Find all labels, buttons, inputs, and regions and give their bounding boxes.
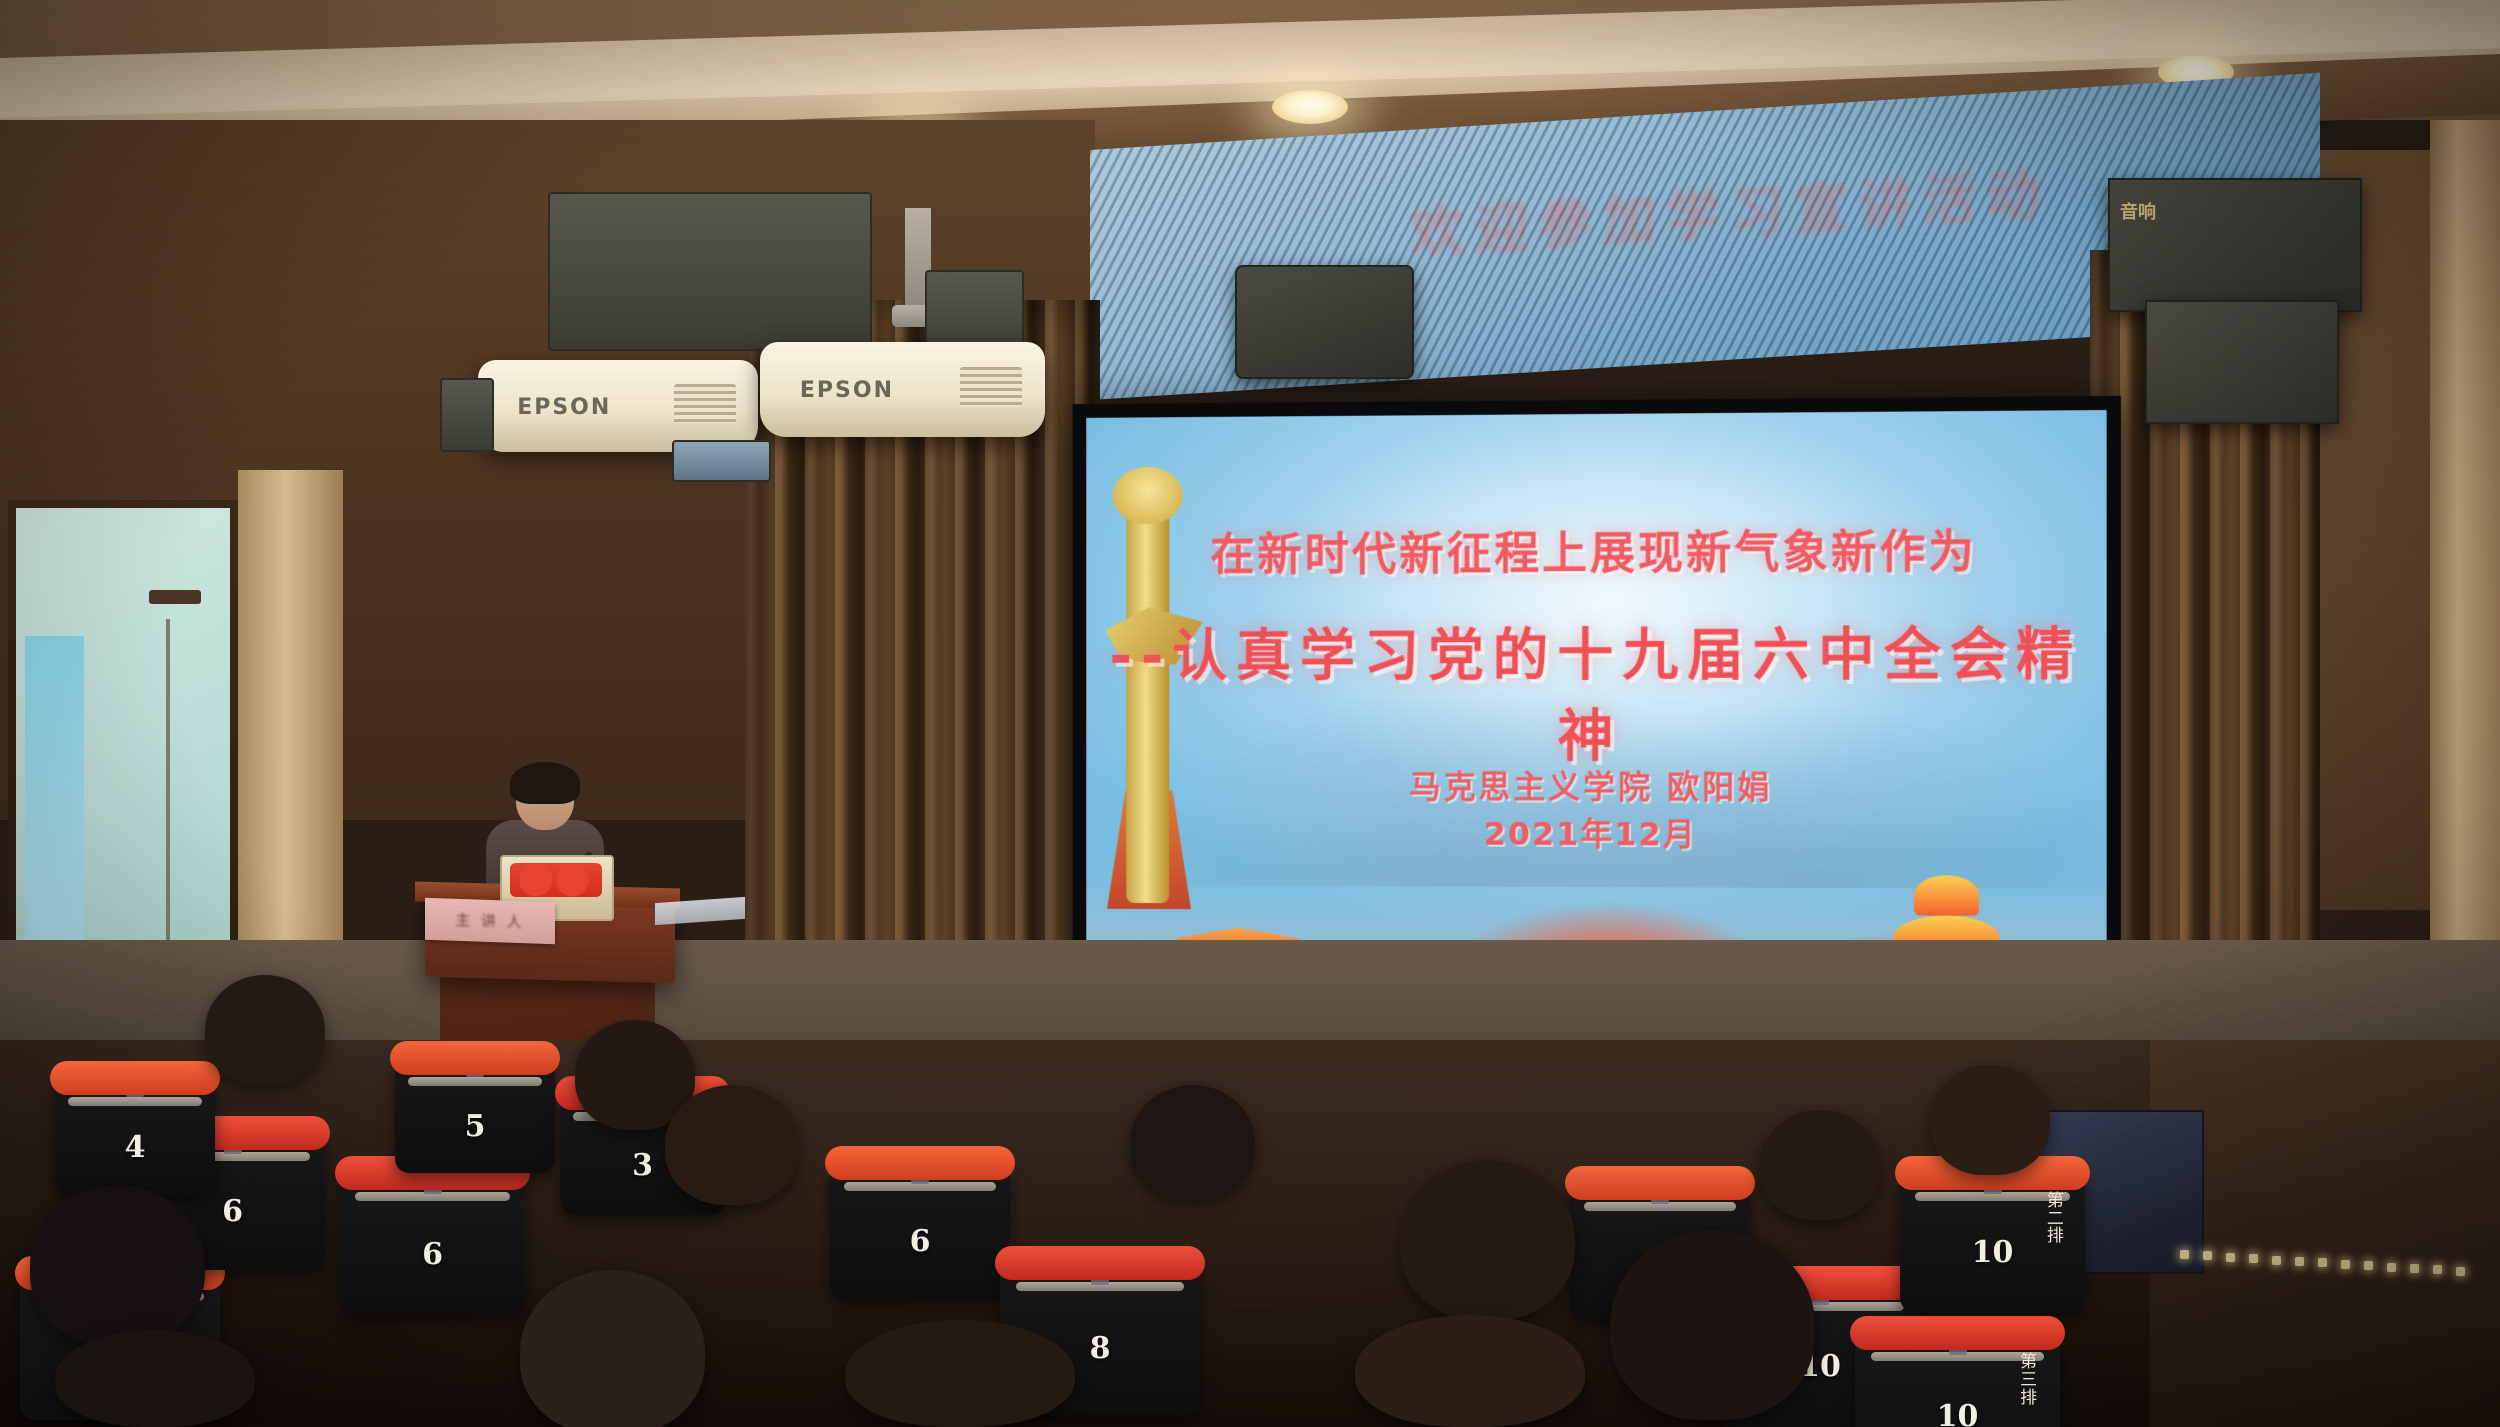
projector-vent-grille [960,367,1023,407]
auditorium-seat[interactable]: 5 [395,1055,555,1173]
projector-lens-plate [672,440,771,482]
seat-headrest [390,1041,560,1075]
slide-title: 在新时代新征程上展现新气象新作为 [1086,514,2106,583]
seat-trim [408,1077,542,1086]
projector-vent-grille [674,384,736,423]
seat-row-label: 第三排 [2016,1354,2042,1408]
slide-subtitle: --认真学习党的十九届六中全会精神 [1086,608,2106,772]
audience-head [665,1085,800,1205]
presenter-hair [510,762,580,804]
step-light [2456,1267,2465,1276]
step-light [2180,1250,2189,1259]
step-light [2249,1254,2258,1263]
seat-headrest [1850,1316,2065,1350]
step-light [2364,1261,2373,1270]
audience-head [1355,1315,1585,1427]
auditorium-seat[interactable]: 4 [55,1075,215,1195]
audience-head [1610,1230,1815,1420]
seat-trim [68,1097,202,1106]
step-light [2318,1258,2327,1267]
auditorium-seat[interactable]: 6 [340,1170,525,1315]
audience-head [55,1330,255,1427]
seat-number: 5 [395,1109,555,1144]
podium-nameplate-text: 主 讲 人 [425,898,555,945]
seat-headrest [50,1061,220,1095]
projector-brand-label: EPSON [800,378,894,403]
projector-bracket [440,378,494,452]
slide-presenter: 马克思主义学院 欧阳娟 [1086,762,2106,810]
audience-head [1760,1110,1880,1220]
slide-date: 2021年12月 [1086,808,2106,857]
audience-head [1400,1160,1575,1320]
ceiling-speaker-center [1235,265,1414,379]
step-light [2387,1263,2396,1272]
step-light [2433,1265,2442,1274]
seat-headrest [1565,1166,1755,1200]
projector-left: EPSON [478,360,758,452]
led-banner-text: 欢迎参加学习宣讲活动 [1230,138,2230,280]
step-light [2295,1257,2304,1266]
seat-headrest [825,1146,1015,1180]
step-light [2410,1264,2419,1273]
party-centenary-emblem [510,863,602,897]
podium-nameplate: 主 讲 人 [425,898,555,945]
step-light [2203,1251,2212,1260]
audience-head [1130,1085,1255,1200]
audience-head [520,1270,705,1427]
wall-speaker-right-lower [2145,300,2339,424]
auditorium-seat[interactable]: 10第三排 [1855,1330,2060,1427]
lecture-hall-photo: 欢迎参加学习宣讲活动 在新时代新征程上展现新气象新作为 --认真学习党的十九届六… [0,0,2500,1427]
step-light [2341,1260,2350,1269]
projector-right: EPSON [760,342,1045,437]
seat-row-label: 第二排 [2042,1193,2068,1247]
auditorium-seat[interactable]: 10第二排 [1900,1170,2085,1312]
seat-number: 6 [830,1224,1010,1259]
door-handle[interactable] [149,590,201,604]
ceiling-downlight [1272,90,1348,124]
wall-speaker-right-upper: 音响 [2108,178,2362,312]
audience-head [1930,1065,2050,1175]
aisle-step-lights [2180,1250,2480,1266]
audience-head [205,975,325,1085]
step-light [2272,1256,2281,1265]
projector-housing-box [548,192,872,351]
audience-head [30,1185,205,1345]
auditorium-seat[interactable]: 6 [830,1160,1010,1300]
audience-head [845,1320,1075,1427]
door-rod [166,619,170,981]
seat-number: 4 [55,1130,215,1165]
step-light [2226,1253,2235,1262]
speaker-brand-label: 音响 [2120,198,2156,224]
seat-number: 6 [340,1237,525,1272]
seat-headrest [995,1246,1205,1280]
projector-brand-label: EPSON [517,395,611,420]
